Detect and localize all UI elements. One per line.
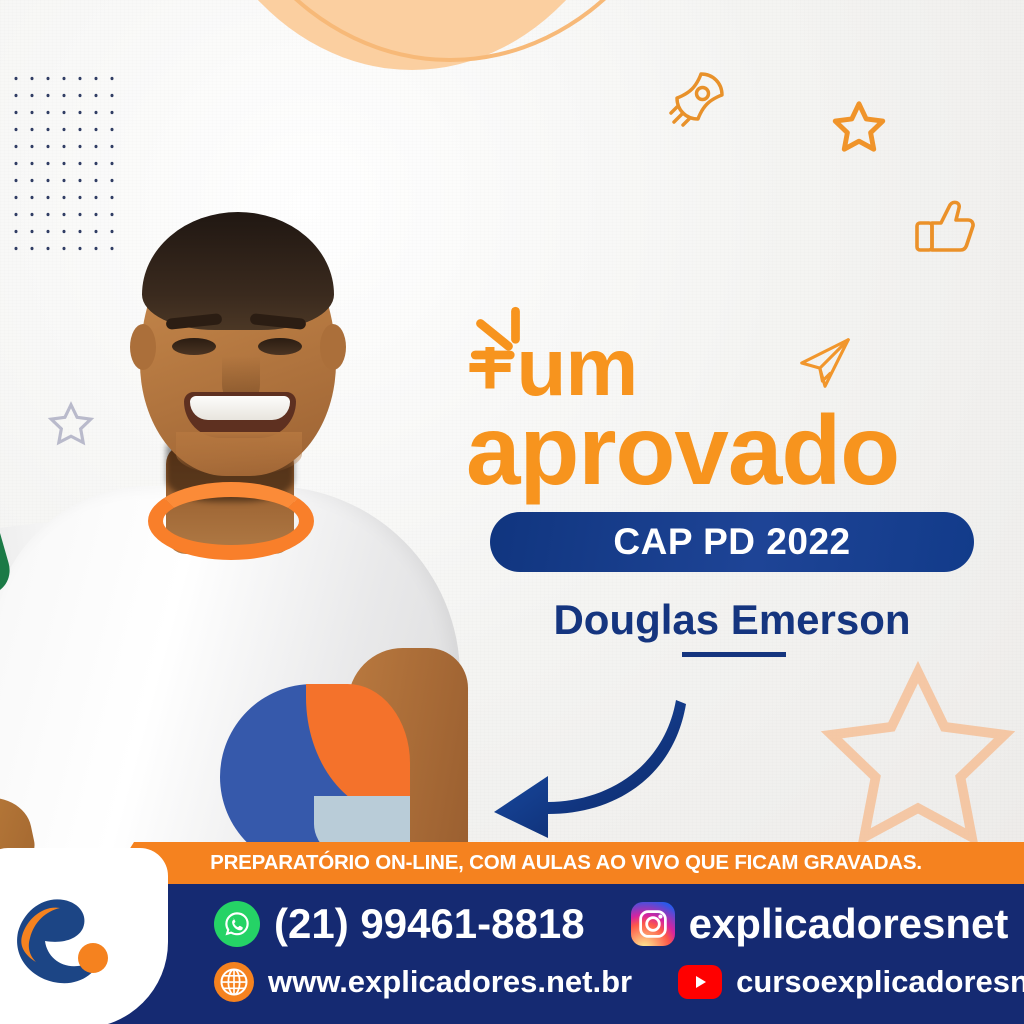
curved-arrow-icon: [486, 690, 696, 840]
headline-line-2: aprovado: [466, 405, 986, 495]
rocket-icon: [662, 60, 734, 136]
course-badge: CAP PD 2022: [490, 512, 974, 572]
ear-right: [320, 324, 346, 370]
student-photo: [0, 196, 490, 861]
promo-poster: + um aprovado CAP PD 2022 Douglas Emerso…: [0, 0, 1024, 1024]
hair: [142, 212, 334, 330]
globe-icon[interactable]: [214, 962, 254, 1002]
tagline-text: PREPARATÓRIO ON-LINE, COM AULAS AO VIVO …: [210, 851, 922, 875]
thumbs-up-icon: [908, 190, 980, 262]
teeth: [190, 396, 290, 420]
tagline-bar: PREPARATÓRIO ON-LINE, COM AULAS AO VIVO …: [108, 842, 1024, 884]
website-url[interactable]: www.explicadores.net.br: [268, 964, 632, 1000]
eye-right: [258, 338, 302, 355]
course-badge-label: CAP PD 2022: [613, 521, 850, 563]
ear-left: [130, 324, 156, 370]
brand-logo-mark: [0, 870, 146, 1010]
contact-row-primary: (21) 99461-8818 explicadoresnet: [214, 900, 1008, 948]
instagram-icon[interactable]: [631, 902, 675, 946]
whatsapp-icon[interactable]: [214, 901, 260, 947]
eye-left: [172, 338, 216, 355]
name-underline: [682, 652, 786, 657]
jersey-collar: [148, 482, 314, 560]
whatsapp-number[interactable]: (21) 99461-8818: [274, 900, 585, 948]
chin: [176, 432, 302, 476]
headline: + um aprovado: [466, 330, 986, 496]
instagram-handle[interactable]: explicadoresnet: [689, 900, 1009, 948]
youtube-channel[interactable]: cursoexplicadoresnet: [736, 964, 1024, 1000]
brand-logo-card[interactable]: [0, 848, 168, 1024]
headline-line-1: + um: [466, 330, 986, 405]
star-icon: [828, 96, 890, 158]
student-name: Douglas Emerson: [490, 596, 974, 644]
big-faint-star-icon: [812, 650, 1024, 867]
youtube-icon[interactable]: [678, 965, 722, 999]
contact-row-secondary: www.explicadores.net.br cursoexplicadore…: [214, 962, 1024, 1002]
